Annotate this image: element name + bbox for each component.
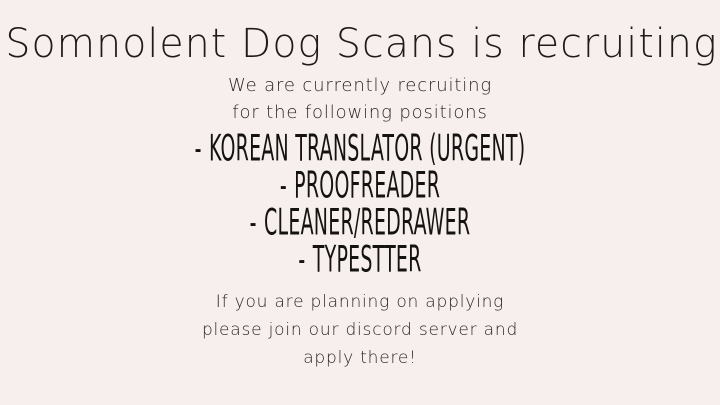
footer-line-3: apply there!	[0, 344, 720, 372]
list-item-label: TYPESTTER	[313, 239, 422, 281]
list-item-marker: -	[195, 128, 203, 170]
list-item: - TYPESTTER	[137, 241, 583, 280]
footer-line-1: If you are planning on applying	[0, 288, 720, 316]
list-item-marker: -	[250, 202, 258, 244]
footer-block: If you are planning on applying please j…	[0, 288, 720, 372]
subtitle-line-1: We are currently recruiting	[0, 72, 720, 99]
subtitle-line-2: for the following positions	[0, 99, 720, 126]
list-item-marker: -	[298, 239, 306, 281]
footer-line-2: please join our discord server and	[0, 316, 720, 344]
subtitle-block: We are currently recruiting for the foll…	[0, 72, 720, 126]
page-title: Somnolent Dog Scans is recruiting!	[5, 18, 714, 70]
list-item: - PROOFREADER	[137, 167, 583, 206]
positions-list: - KOREAN TRANSLATOR (URGENT) - PROOFREAD…	[0, 131, 720, 279]
list-item: - KOREAN TRANSLATOR (URGENT)	[137, 130, 583, 169]
list-item: - CLEANER/REDRAWER	[137, 204, 583, 243]
recruitment-poster: Somnolent Dog Scans is recruiting! We ar…	[0, 0, 720, 405]
